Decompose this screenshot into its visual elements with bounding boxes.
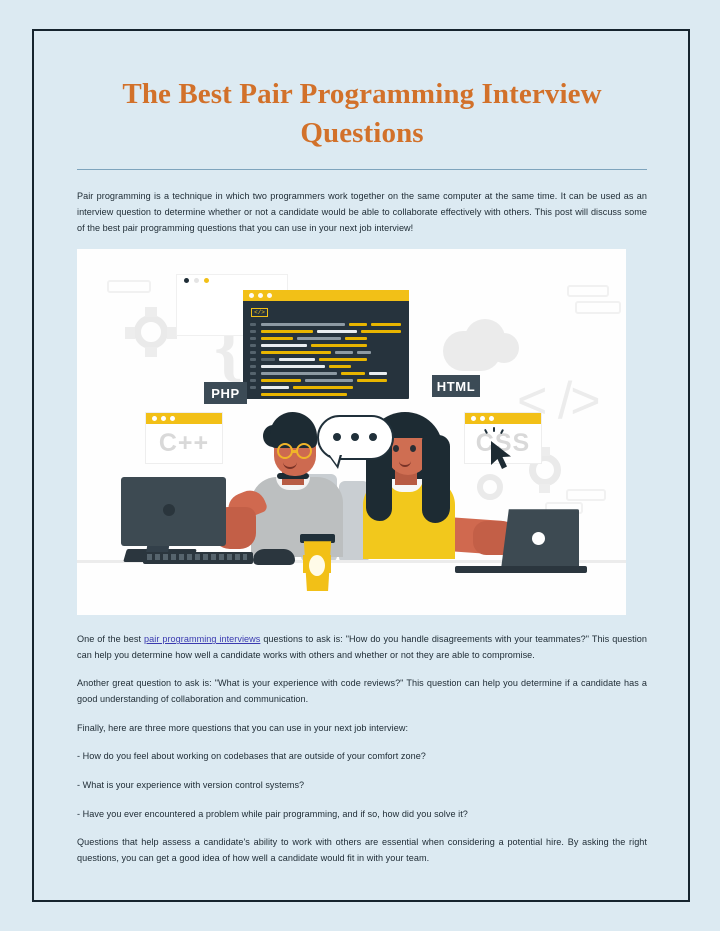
window-dot-icon bbox=[184, 278, 189, 283]
pair-programming-interviews-link[interactable]: pair programming interviews bbox=[144, 634, 260, 644]
bullet-item-1: - How do you feel about working on codeb… bbox=[77, 749, 647, 765]
gear-tooth-c bbox=[125, 327, 135, 339]
decor-stub-1 bbox=[107, 280, 151, 293]
document-content: The Best Pair Programming Interview Ques… bbox=[77, 75, 647, 880]
mouse-device bbox=[253, 549, 295, 565]
code-tag-icon: </> bbox=[251, 308, 268, 317]
window-dot-icon bbox=[194, 278, 199, 283]
gear-tooth-f bbox=[539, 484, 550, 493]
gear-tooth-b bbox=[145, 347, 157, 357]
cloud-icon-bump2 bbox=[489, 333, 519, 363]
window-dot-icon bbox=[258, 293, 263, 298]
speech-bubble-tail-inner bbox=[329, 454, 340, 465]
window-dot-icon bbox=[170, 416, 175, 421]
gear-icon-left bbox=[134, 315, 168, 349]
intro-paragraph: Pair programming is a technique in which… bbox=[77, 189, 647, 236]
man-hair bbox=[270, 412, 317, 448]
q1-text-before: One of the best bbox=[77, 634, 144, 644]
gear-icon-mid-right bbox=[477, 474, 503, 500]
window-dot-icon bbox=[480, 416, 485, 421]
window-dot-icon bbox=[152, 416, 157, 421]
window-dot-icon bbox=[471, 416, 476, 421]
man-glasses-bridge bbox=[292, 450, 298, 452]
document-frame: The Best Pair Programming Interview Ques… bbox=[32, 29, 690, 902]
laptop-base bbox=[455, 566, 587, 573]
gear-tooth-a bbox=[145, 307, 157, 317]
bullet-item-2: - What is your experience with version c… bbox=[77, 778, 647, 794]
window-dot-icon bbox=[267, 293, 272, 298]
background-window-titlebar bbox=[177, 275, 287, 285]
title-divider bbox=[77, 169, 647, 170]
decor-stub-4 bbox=[566, 489, 606, 501]
cursor-sparkle-icon bbox=[493, 427, 495, 432]
window-dot-icon bbox=[204, 278, 209, 283]
lead-in-paragraph: Finally, here are three more questions t… bbox=[77, 721, 647, 737]
window-dot-icon bbox=[161, 416, 166, 421]
decor-stub-3 bbox=[575, 301, 621, 314]
woman-hair-right bbox=[422, 435, 450, 523]
window-dot-icon bbox=[249, 293, 254, 298]
cpp-label: C++ bbox=[146, 424, 222, 463]
window-dot-icon bbox=[489, 416, 494, 421]
pair-programming-illustration: { } < /> </> bbox=[77, 249, 626, 615]
keyboard-keys bbox=[147, 554, 247, 560]
decor-stub-2 bbox=[567, 285, 609, 297]
question-one-paragraph: One of the best pair programming intervi… bbox=[77, 632, 647, 663]
code-editor-titlebar bbox=[243, 290, 409, 301]
code-editor-window: </> bbox=[243, 290, 409, 399]
cpp-window-titlebar bbox=[146, 413, 222, 424]
page-title: The Best Pair Programming Interview Ques… bbox=[77, 75, 647, 153]
php-badge: PHP bbox=[204, 382, 247, 404]
cpp-window: C++ bbox=[145, 412, 223, 464]
css-window-titlebar bbox=[465, 413, 541, 424]
bullet-item-3: - Have you ever encountered a problem wh… bbox=[77, 807, 647, 823]
closing-paragraph: Questions that help assess a candidate's… bbox=[77, 835, 647, 866]
html-badge: HTML bbox=[432, 375, 480, 397]
question-two-paragraph: Another great question to ask is: "What … bbox=[77, 676, 647, 707]
